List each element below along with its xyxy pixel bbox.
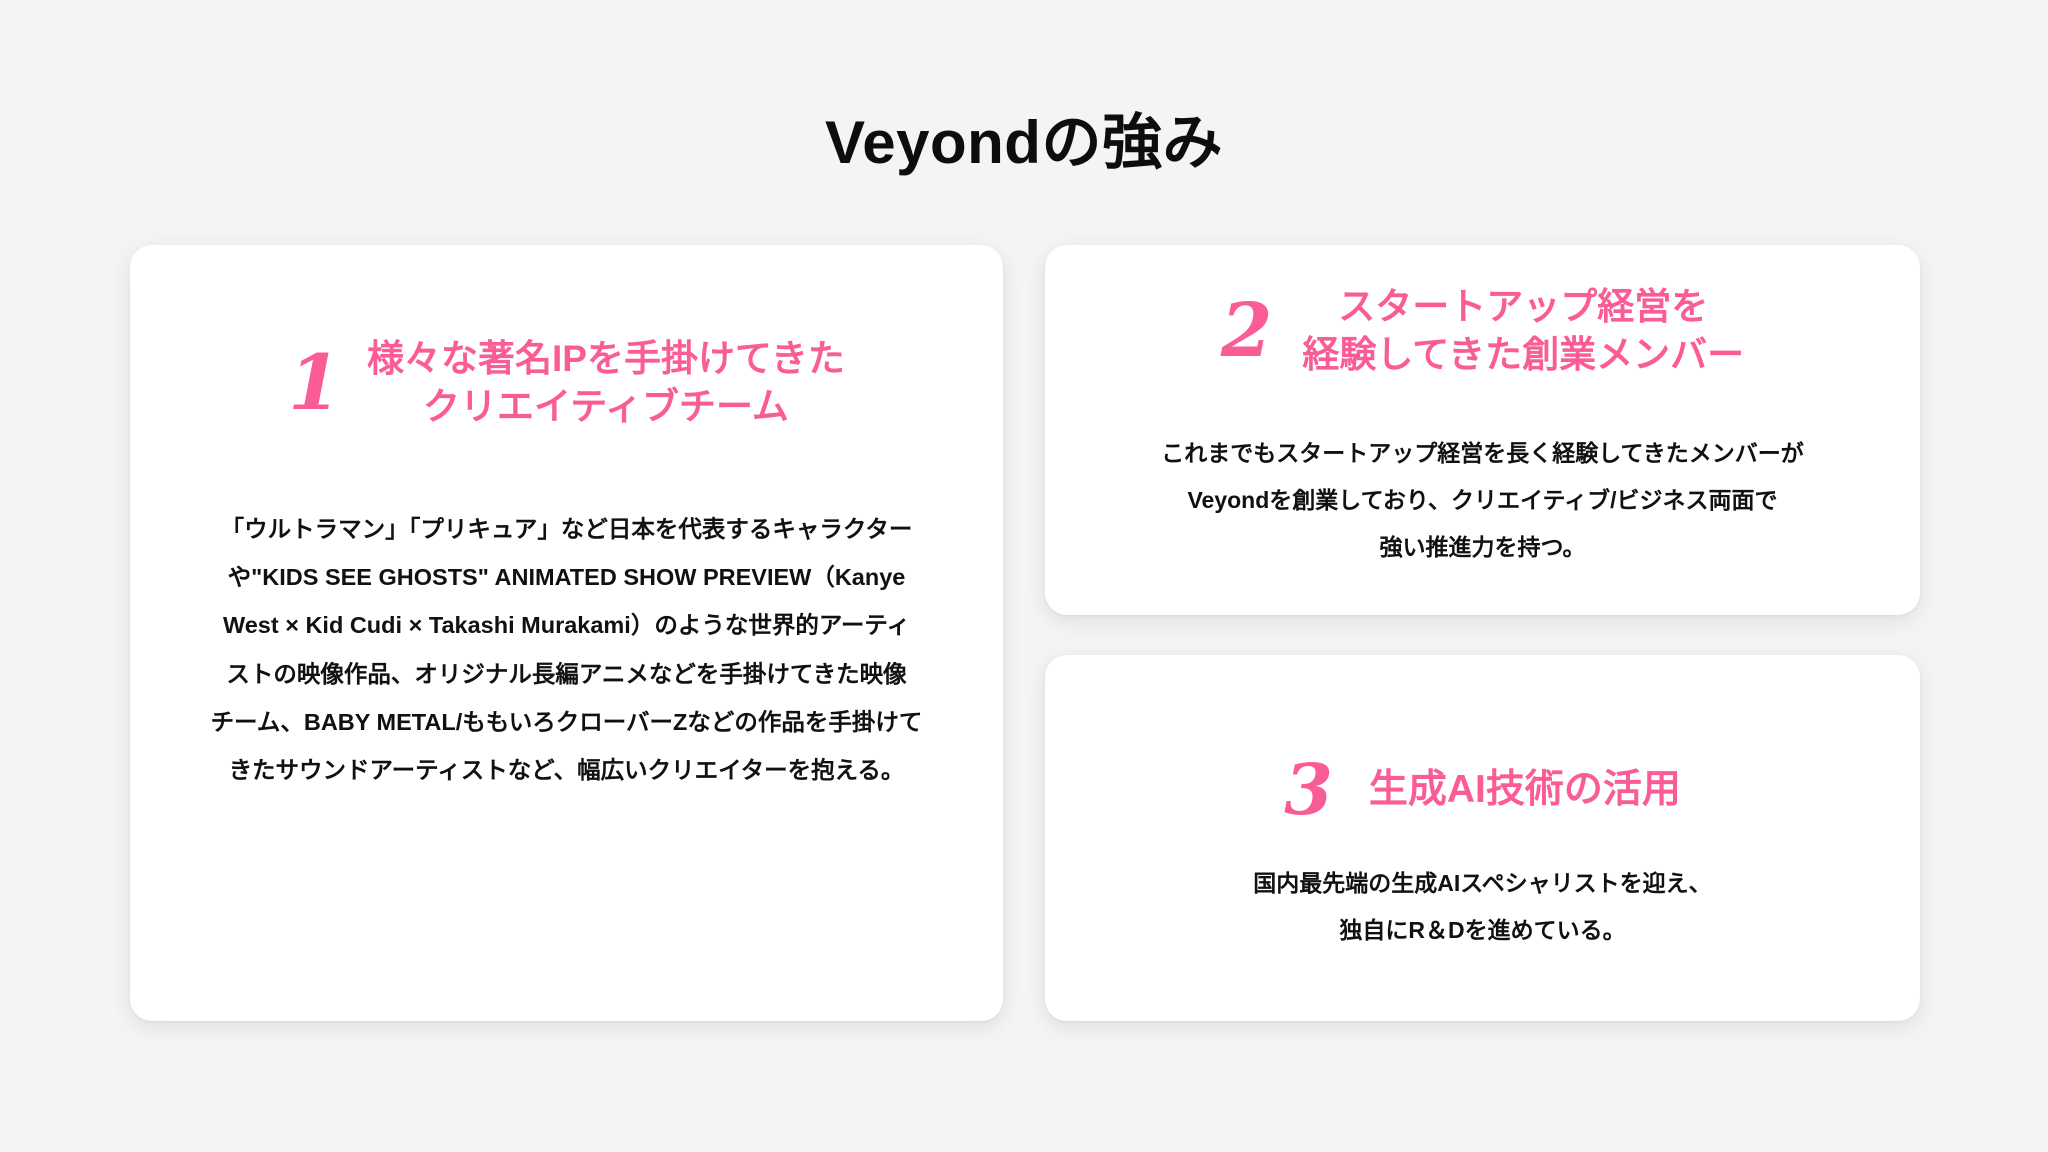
card-2-heading-line-2: 経験してきた創業メンバー [1302, 331, 1744, 379]
card-1-number: 1 [288, 345, 341, 421]
card-1-body-line-1: 「ウルトラマン」「プリキュア」など日本を代表するキャラクター [158, 505, 975, 553]
card-1-body-line-4: ストの映像作品、オリジナル長編アニメなどを手掛けてきた映像 [158, 650, 975, 698]
card-3-heading-row: 3 生成AI技術の活用 [1045, 755, 1920, 825]
card-2-number: 2 [1221, 294, 1273, 368]
card-1-heading-row: 1 様々な著名IPを手掛けてきた クリエイティブチーム [130, 335, 1003, 431]
card-3-heading: 生成AI技術の活用 [1369, 765, 1681, 816]
card-3-body: 国内最先端の生成AIスペシャリストを迎え、 独自にR＆Dを進めている。 [1045, 860, 1920, 954]
card-1-body-line-3: West × Kid Cudi × Takashi Murakami）のような世… [158, 601, 975, 649]
card-1-body-line-6: きたサウンドアーティストなど、幅広いクリエイターを抱える。 [158, 746, 975, 794]
card-2-body: これまでもスタートアップ経営を長く経験してきたメンバーが Veyondを創業して… [1045, 430, 1920, 571]
card-2-heading: スタートアップ経営を 経験してきた創業メンバー [1302, 283, 1744, 379]
page-title: Veyondの強み [0, 110, 2048, 176]
strength-card-2: 2 スタートアップ経営を 経験してきた創業メンバー これまでもスタートアップ経営… [1045, 245, 1920, 615]
strength-card-3: 3 生成AI技術の活用 国内最先端の生成AIスペシャリストを迎え、 独自にR＆D… [1045, 655, 1920, 1021]
card-1-body-line-2: や"KIDS SEE GHOSTS" ANIMATED SHOW PREVIEW… [158, 553, 975, 601]
card-3-body-line-1: 国内最先端の生成AIスペシャリストを迎え、 [1085, 860, 1880, 907]
card-3-body-line-2: 独自にR＆Dを進めている。 [1085, 907, 1880, 954]
card-2-heading-row: 2 スタートアップ経営を 経験してきた創業メンバー [1045, 283, 1920, 379]
card-2-body-line-1: これまでもスタートアップ経営を長く経験してきたメンバーが [1085, 430, 1880, 477]
card-2-heading-line-1: スタートアップ経営を [1302, 283, 1744, 331]
card-1-body: 「ウルトラマン」「プリキュア」など日本を代表するキャラクター や"KIDS SE… [130, 505, 1003, 794]
card-2-body-line-2: Veyondを創業しており、クリエイティブ/ビジネス両面で [1085, 477, 1880, 524]
card-1-body-line-5: チーム、BABY METAL/ももいろクローバーZなどの作品を手掛けて [158, 698, 975, 746]
card-1-heading-line-1: 様々な著名IPを手掛けてきた [367, 335, 845, 383]
card-2-body-line-3: 強い推進力を持つ。 [1085, 524, 1880, 571]
card-3-number: 3 [1284, 755, 1333, 825]
card-3-heading-line-1: 生成AI技術の活用 [1369, 765, 1681, 816]
card-1-heading: 様々な著名IPを手掛けてきた クリエイティブチーム [367, 335, 845, 431]
strength-card-1: 1 様々な著名IPを手掛けてきた クリエイティブチーム 「ウルトラマン」「プリキ… [130, 245, 1003, 1021]
card-1-heading-line-2: クリエイティブチーム [367, 383, 845, 431]
